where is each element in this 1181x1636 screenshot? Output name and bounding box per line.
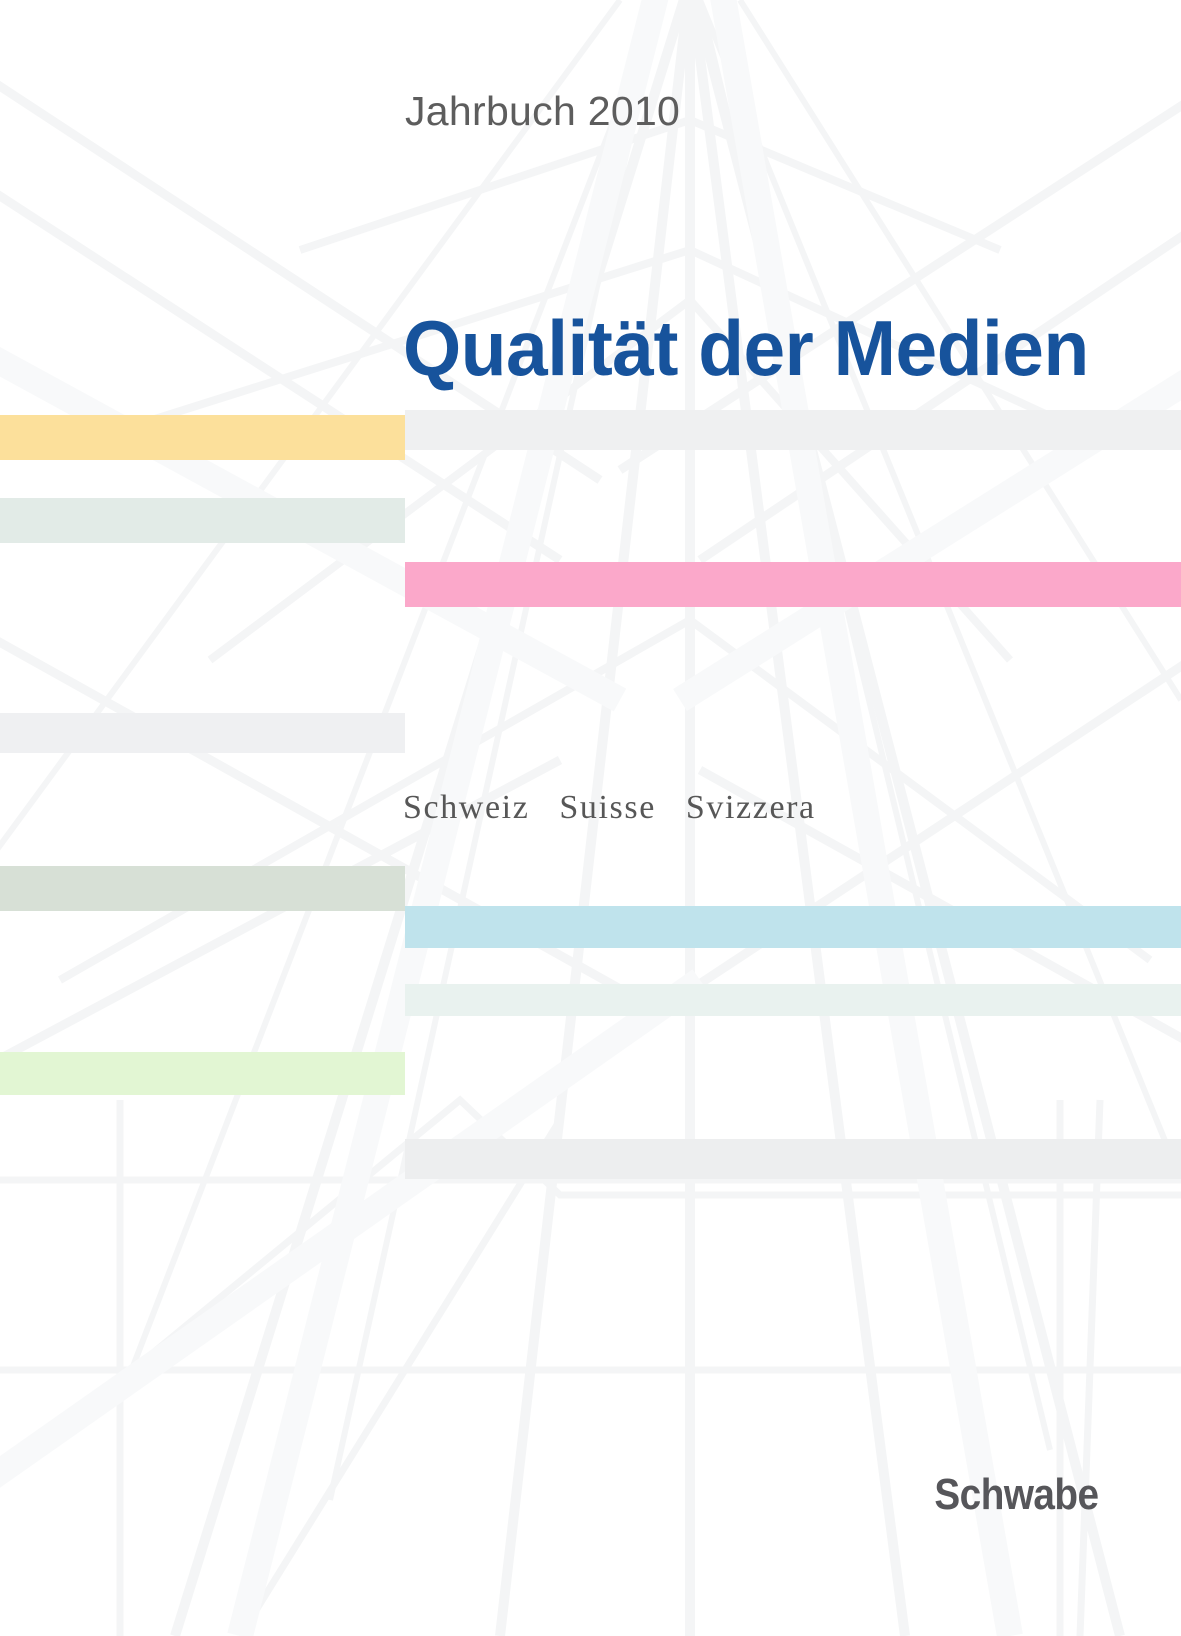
language-it: Svizzera	[686, 789, 816, 826]
cover-text-layer: Jahrbuch 2010 Qualität der Medien Schwei…	[0, 0, 1181, 1636]
page-title: Qualität der Medien	[403, 303, 1089, 394]
publisher-logo: Schwabe	[935, 1470, 1099, 1520]
language-de: Schweiz	[403, 789, 529, 826]
series-label: Jahrbuch 2010	[405, 88, 680, 135]
book-cover: Jahrbuch 2010 Qualität der Medien Schwei…	[0, 0, 1181, 1636]
language-line: SchweizSuisseSvizzera	[403, 789, 816, 827]
language-fr: Suisse	[559, 789, 656, 826]
